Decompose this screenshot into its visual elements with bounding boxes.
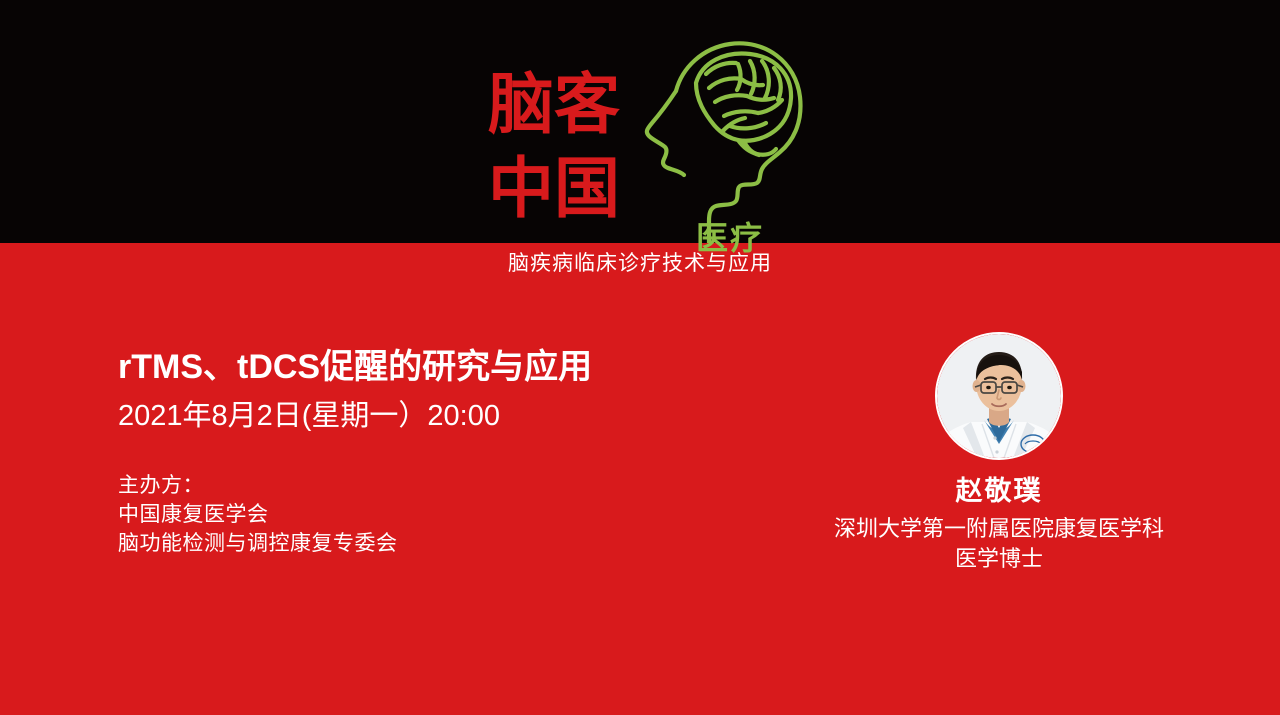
banner-subtitle: 脑疾病临床诊疗技术与应用 bbox=[0, 250, 1280, 278]
organizer-name-2: 脑功能检测与调控康复专委会 bbox=[118, 529, 818, 558]
speaker-degree: 医学博士 bbox=[799, 544, 1199, 574]
brain-head-outline-icon bbox=[610, 28, 810, 243]
webinar-poster: 脑客 中国 bbox=[0, 0, 1280, 715]
speaker-avatar bbox=[935, 332, 1063, 460]
brand-wordmark-line-2: 中国 bbox=[488, 146, 628, 230]
brand-wordmark: 脑客 中国 bbox=[488, 62, 628, 230]
speaker-info: 赵敬璞 深圳大学第一附属医院康复医学科 医学博士 bbox=[799, 332, 1199, 574]
lecture-info: rTMS、tDCS促醒的研究与应用 2021年8月2日(星期一）20:00 主办… bbox=[118, 345, 818, 558]
organizer-label: 主办方： bbox=[118, 471, 818, 500]
avatar-ring bbox=[935, 332, 1063, 460]
lecture-title: rTMS、tDCS促醒的研究与应用 bbox=[118, 345, 818, 389]
brand-wordmark-line-1: 脑客 bbox=[488, 62, 628, 146]
brand-logo: 脑客 中国 bbox=[488, 28, 808, 243]
speaker-affiliation: 深圳大学第一附属医院康复医学科 bbox=[799, 514, 1199, 544]
speaker-name: 赵敬璞 bbox=[799, 474, 1199, 508]
organizer-block: 主办方： 中国康复医学会 脑功能检测与调控康复专委会 bbox=[118, 471, 818, 558]
lecture-datetime: 2021年8月2日(星期一）20:00 bbox=[118, 397, 818, 435]
speaker-portrait-illustration bbox=[937, 334, 1061, 458]
organizer-name-1: 中国康复医学会 bbox=[118, 500, 818, 529]
